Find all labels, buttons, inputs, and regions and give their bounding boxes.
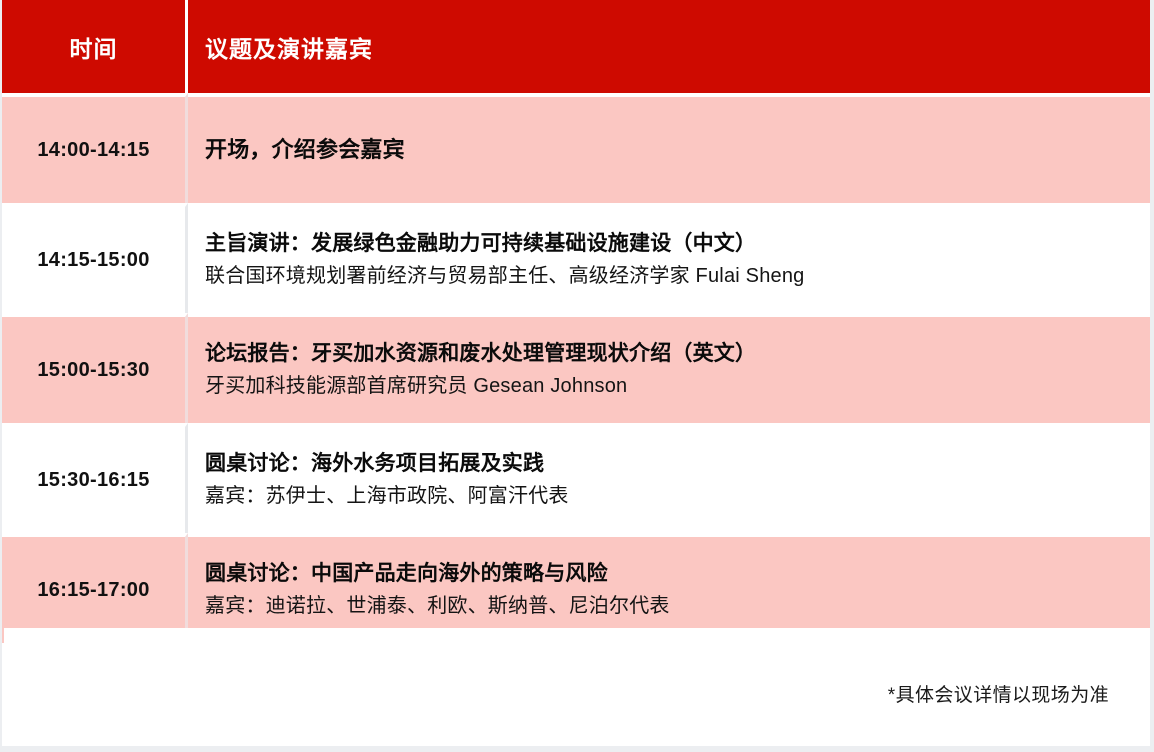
session-topic: 论坛报告：牙买加水资源和废水处理管理现状介绍（英文） 牙买加科技能源部首席研究员…: [188, 313, 1150, 423]
session-title: 论坛报告：牙买加水资源和废水处理管理现状介绍（英文）: [205, 339, 1150, 369]
agenda-table: 时间 议题及演讲嘉宾 14:00-14:15 开场，介绍参会嘉宾 14:15-1…: [2, 0, 1150, 643]
header-row: 时间 议题及演讲嘉宾: [2, 0, 1150, 93]
session-time: 14:00-14:15: [2, 93, 188, 203]
session-speaker: 嘉宾：迪诺拉、世浦泰、利欧、斯纳普、尼泊尔代表: [205, 591, 1150, 621]
session-title: 圆桌讨论：中国产品走向海外的策略与风险: [205, 559, 1150, 589]
table-row: 14:15-15:00 主旨演讲：发展绿色金融助力可持续基础设施建设（中文） 联…: [2, 203, 1150, 313]
table-body: 14:00-14:15 开场，介绍参会嘉宾 14:15-15:00 主旨演讲：发…: [2, 93, 1150, 643]
agenda-page: 时间 议题及演讲嘉宾 14:00-14:15 开场，介绍参会嘉宾 14:15-1…: [0, 0, 1154, 752]
column-header-time: 时间: [2, 0, 188, 93]
agenda-sheet: 时间 议题及演讲嘉宾 14:00-14:15 开场，介绍参会嘉宾 14:15-1…: [2, 0, 1150, 746]
column-header-topic: 议题及演讲嘉宾: [188, 0, 1150, 93]
table-row: 15:00-15:30 论坛报告：牙买加水资源和废水处理管理现状介绍（英文） 牙…: [2, 313, 1150, 423]
session-time: 16:15-17:00: [2, 533, 188, 643]
session-topic: 圆桌讨论：海外水务项目拓展及实践 嘉宾：苏伊士、上海市政院、阿富汗代表: [188, 423, 1150, 533]
footnote-text: *具体会议详情以现场为准: [888, 680, 1109, 707]
session-topic: 主旨演讲：发展绿色金融助力可持续基础设施建设（中文） 联合国环境规划署前经济与贸…: [188, 203, 1150, 313]
table-row: 14:00-14:15 开场，介绍参会嘉宾: [2, 93, 1150, 203]
session-title: 主旨演讲：发展绿色金融助力可持续基础设施建设（中文）: [205, 229, 1150, 259]
session-speaker: 牙买加科技能源部首席研究员 Gesean Johnson: [205, 371, 1150, 401]
session-speaker: 嘉宾：苏伊士、上海市政院、阿富汗代表: [205, 481, 1150, 511]
session-time: 15:00-15:30: [2, 313, 188, 423]
table-row: 15:30-16:15 圆桌讨论：海外水务项目拓展及实践 嘉宾：苏伊士、上海市政…: [2, 423, 1150, 533]
session-title: 开场，介绍参会嘉宾: [205, 134, 1150, 166]
footnote-area: *具体会议详情以现场为准: [4, 628, 1150, 746]
session-speaker: 联合国环境规划署前经济与贸易部主任、高级经济学家 Fulai Sheng: [205, 261, 1150, 291]
session-time: 14:15-15:00: [2, 203, 188, 313]
session-title: 圆桌讨论：海外水务项目拓展及实践: [205, 449, 1150, 479]
session-topic: 开场，介绍参会嘉宾: [188, 93, 1150, 203]
table-row: 16:15-17:00 圆桌讨论：中国产品走向海外的策略与风险 嘉宾：迪诺拉、世…: [2, 533, 1150, 643]
table-header: 时间 议题及演讲嘉宾: [2, 0, 1150, 93]
session-time: 15:30-16:15: [2, 423, 188, 533]
session-topic: 圆桌讨论：中国产品走向海外的策略与风险 嘉宾：迪诺拉、世浦泰、利欧、斯纳普、尼泊…: [188, 533, 1150, 643]
